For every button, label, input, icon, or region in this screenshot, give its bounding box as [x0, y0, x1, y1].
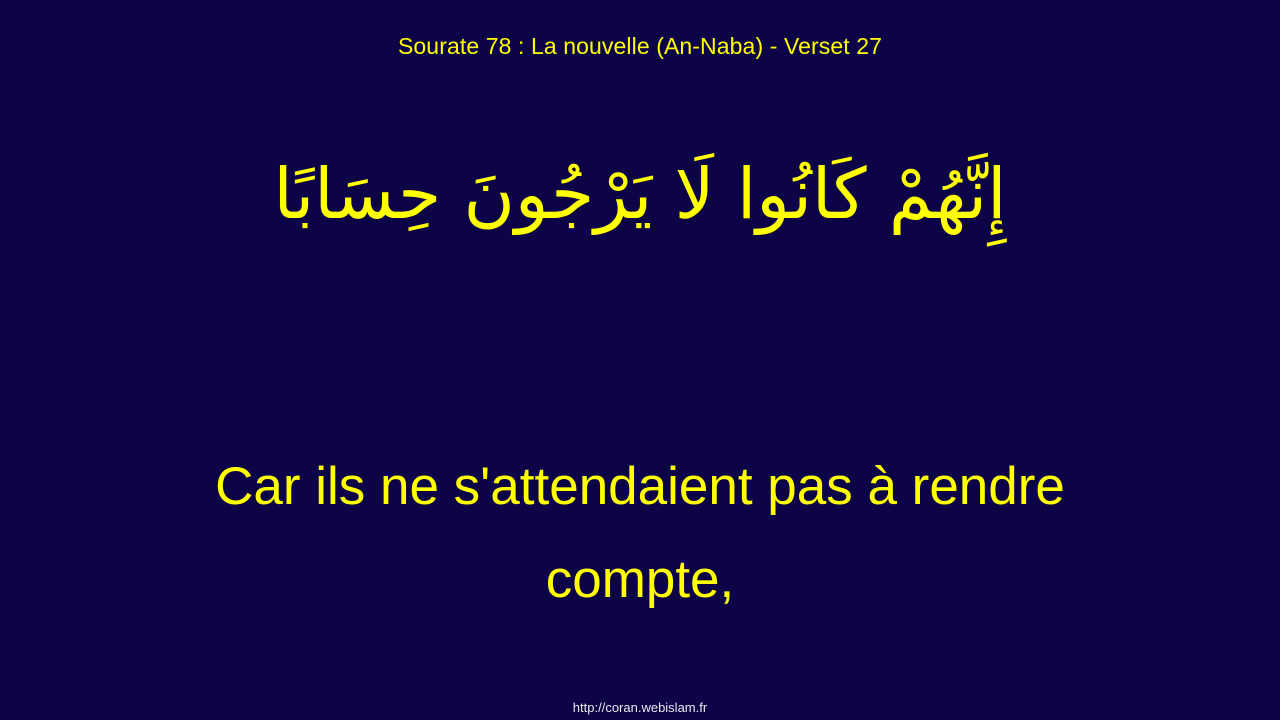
source-url-footer: http://coran.webislam.fr [0, 700, 1280, 716]
page-title: Sourate 78 : La nouvelle (An-Naba) - Ver… [0, 32, 1280, 60]
translation-text: Car ils ne s'attendaient pas à rendre co… [180, 440, 1100, 626]
arabic-verse-container: إِنَّهُمْ كَانُوا لَا يَرْجُونَ حِسَابًا [0, 140, 1280, 249]
verse-slide: Sourate 78 : La nouvelle (An-Naba) - Ver… [0, 0, 1280, 720]
arabic-verse-text: إِنَّهُمْ كَانُوا لَا يَرْجُونَ حِسَابًا [70, 140, 1210, 249]
translation-container: Car ils ne s'attendaient pas à rendre co… [0, 440, 1280, 626]
